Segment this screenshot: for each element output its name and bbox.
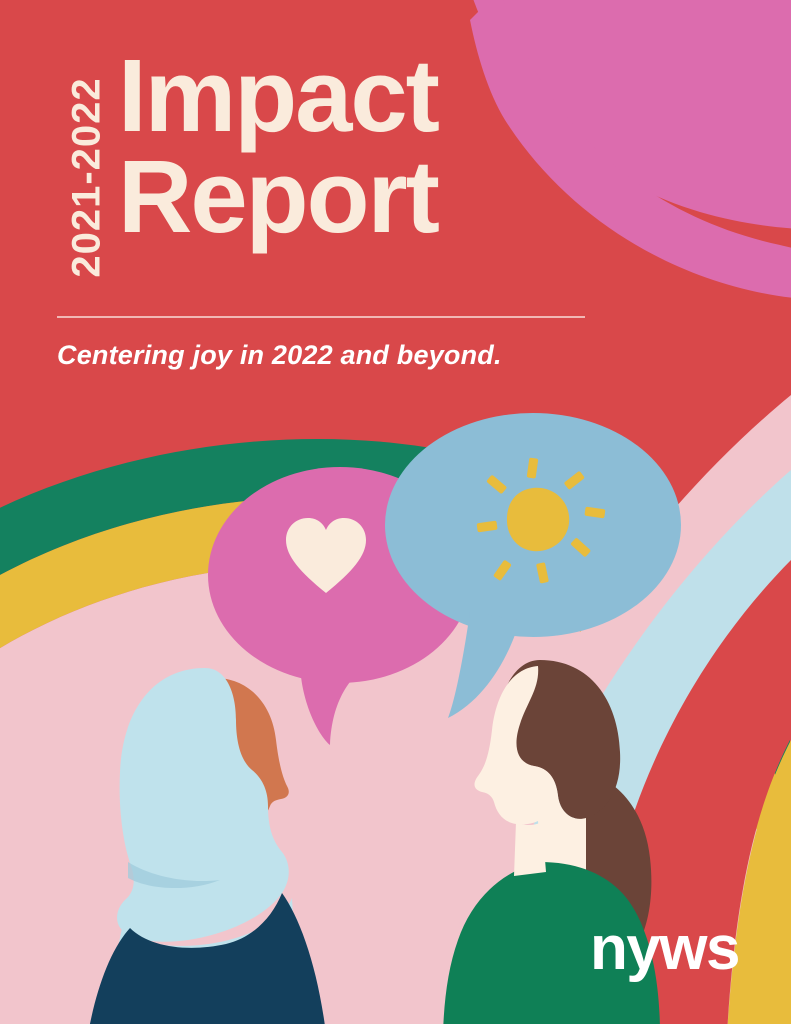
nyws-logo: nyws bbox=[590, 918, 739, 980]
tagline-text: Centering joy in 2022 and beyond. bbox=[57, 340, 502, 371]
ponytail-neck bbox=[514, 822, 546, 876]
title-line-one: Impact bbox=[118, 46, 438, 147]
year-range-label: 2021-2022 bbox=[65, 53, 110, 303]
page-title: Impact Report bbox=[118, 46, 438, 248]
title-line-two: Report bbox=[118, 147, 438, 248]
title-divider-rule bbox=[57, 316, 585, 318]
report-cover-page: 2021-2022 Impact Report Centering joy in… bbox=[0, 0, 791, 1024]
